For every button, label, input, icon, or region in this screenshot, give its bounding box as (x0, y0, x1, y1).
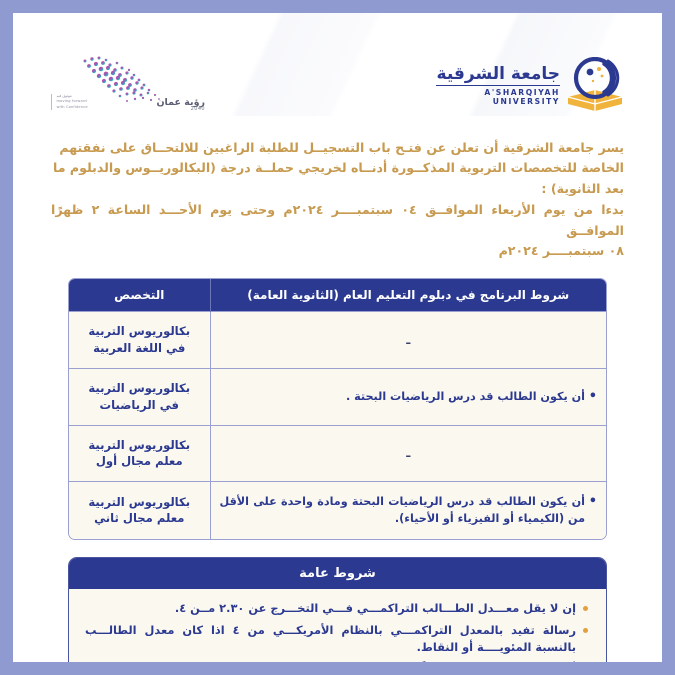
university-english-name: A'SHARQIYAH UNIVERSITY (436, 88, 560, 106)
condition-item: أن يكون الطالب قد درس الرياضيات البحتة و… (220, 493, 598, 528)
cell-specialization: بكالوريوس التربية معلم مجال أول (69, 425, 210, 482)
university-arabic-name: جامعة الشرقية (436, 65, 560, 86)
cell-conditions: ـ (210, 312, 606, 369)
intro-line-1: يسر جامعة الشرقية أن تعلن عن فتـح باب ال… (51, 138, 624, 158)
general-conditions-title: شروط عامة (69, 558, 606, 589)
university-logo: جامعة الشرقية A'SHARQIYAH UNIVERSITY (436, 57, 626, 115)
vision-year: 2040 (156, 107, 205, 112)
table-row: ـ بكالوريوس التربية معلم مجال أول (69, 425, 606, 482)
intro-line-4: بدءا من يوم الأربعاء الموافــق ٠٤ سبتمبـ… (51, 200, 624, 241)
vision-english-tagline: موثوق فيهmoving forwardwith Confidence (51, 94, 113, 110)
table-row: ـ بكالوريوس التربية في اللغة العربية (69, 312, 606, 369)
column-header-specialization: التخصص (69, 279, 210, 312)
university-wordmark: جامعة الشرقية A'SHARQIYAH UNIVERSITY (436, 65, 560, 106)
intro-paragraph: يسر جامعة الشرقية أن تعلن عن فتـح باب ال… (51, 138, 624, 261)
specializations-table: شروط البرنامج في دبلوم التعليم العام (ال… (69, 279, 606, 539)
table-header-row: شروط البرنامج في دبلوم التعليم العام (ال… (69, 279, 606, 312)
intro-line-3: بعد الثانوية) : (51, 179, 624, 199)
poster-page: رؤية عمان 2040 موثوق فيهmoving forwardwi… (13, 13, 662, 662)
specializations-table-container: شروط البرنامج في دبلوم التعليم العام (ال… (68, 278, 607, 540)
column-header-conditions: شروط البرنامج في دبلوم التعليم العام (ال… (210, 279, 606, 312)
list-item: أن يكون المتقدم لائقا صحياً للعمل بمهنة … (85, 661, 590, 662)
header-band: رؤية عمان 2040 موثوق فيهmoving forwardwi… (13, 13, 662, 116)
cell-conditions: أن يكون الطالب قد درس الرياضيات البحتة . (210, 368, 606, 425)
cell-conditions: ـ (210, 425, 606, 482)
cell-specialization: بكالوريوس التربية معلم مجال ثاني (69, 482, 210, 539)
table-body: ـ بكالوريوس التربية في اللغة العربية أن … (69, 312, 606, 539)
intro-line-5: ٠٨ سبتمبــــر ٢٠٢٤م (51, 241, 624, 261)
cell-specialization: بكالوريوس التربية في اللغة العربية (69, 312, 210, 369)
vision-wordmark: رؤية عمان 2040 موثوق فيهmoving forwardwi… (156, 98, 205, 113)
table-row: أن يكون الطالب قد درس الرياضيات البحتة .… (69, 368, 606, 425)
list-item: رسالة تفيد بالمعدل التراكمـــي بالنظام ا… (85, 622, 590, 656)
table-row: أن يكون الطالب قد درس الرياضيات البحتة و… (69, 482, 606, 539)
list-item: إن لا يقل معـــدل الطـــالب التراكمـــي … (85, 600, 590, 617)
general-conditions-list: إن لا يقل معـــدل الطـــالب التراكمـــي … (69, 589, 606, 662)
cell-specialization: بكالوريوس التربية في الرياضيات (69, 368, 210, 425)
intro-line-2: الخاصة للتخصصات التربوية المذكــورة أدنـ… (51, 158, 624, 178)
cell-conditions: أن يكون الطالب قد درس الرياضيات البحتة و… (210, 482, 606, 539)
general-conditions-box: شروط عامة إن لا يقل معـــدل الطـــالب ال… (68, 557, 607, 662)
condition-item: أن يكون الطالب قد درس الرياضيات البحتة . (220, 388, 598, 405)
poster-frame: رؤية عمان 2040 موثوق فيهmoving forwardwi… (0, 0, 675, 675)
oman-vision-2040-logo: رؤية عمان 2040 موثوق فيهmoving forwardwi… (55, 55, 205, 115)
university-crest-icon (564, 57, 626, 115)
